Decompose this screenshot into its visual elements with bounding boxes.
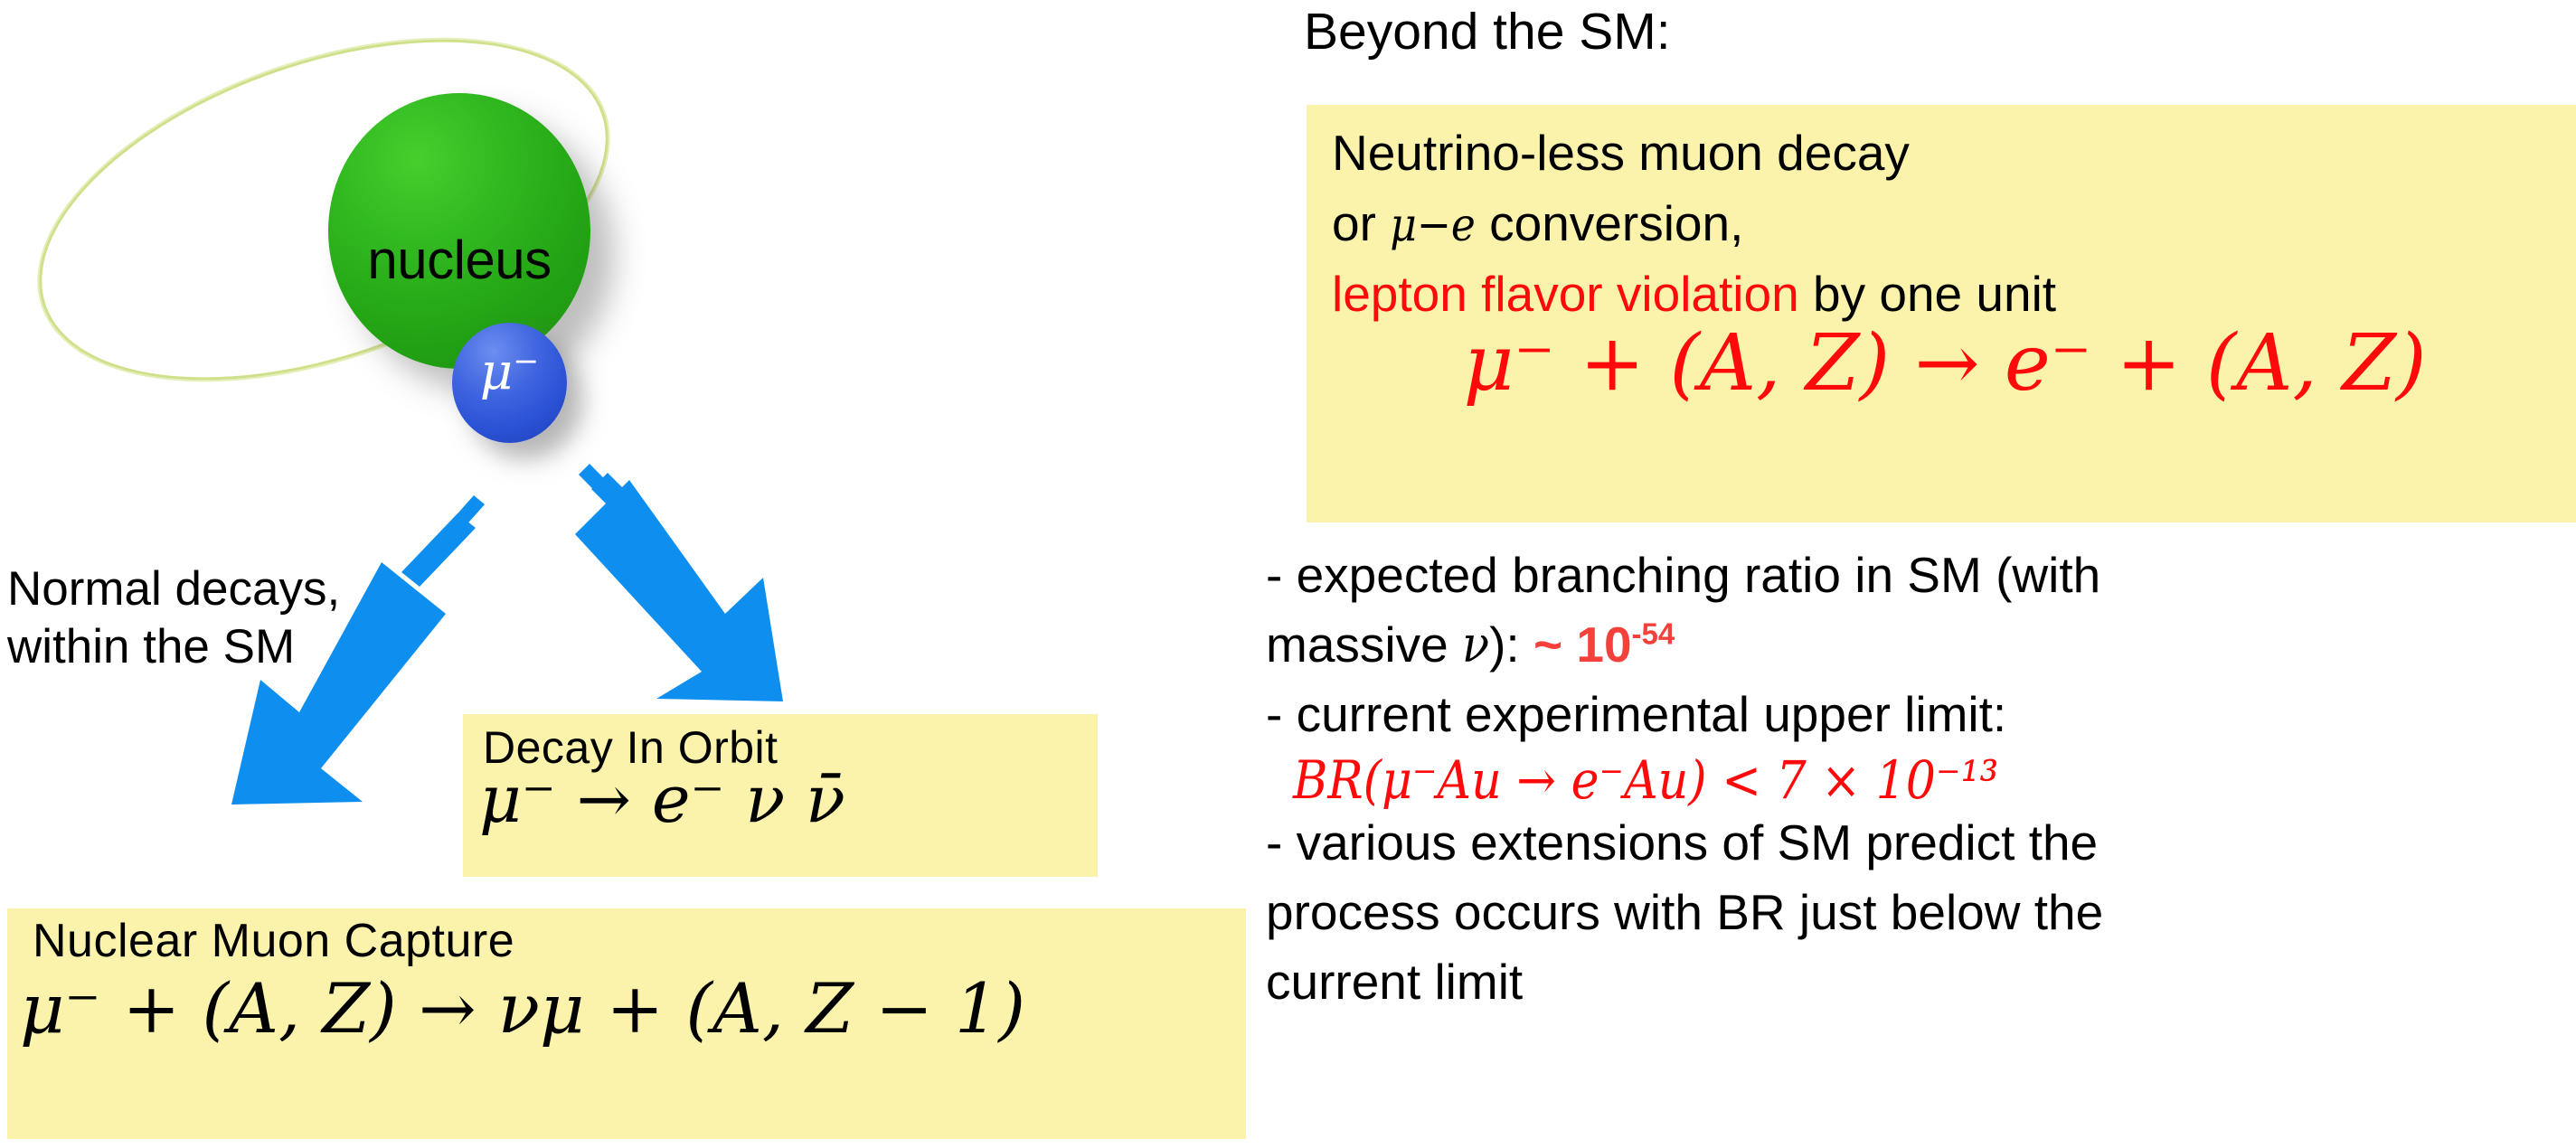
sm-branching-ratio-value: ~ 10-54 [1533, 616, 1675, 673]
bullet-2: - current experimental upper limit: [1266, 680, 2568, 749]
muon-sphere: μ− [452, 323, 567, 443]
bsm-line-2: or μ−e conversion, [1332, 188, 2562, 259]
beyond-sm-heading: Beyond the SM: [1304, 2, 1671, 61]
muon-symbol: μ [480, 343, 513, 402]
beyond-sm-text: Neutrino-less muon decay or μ−e conversi… [1332, 118, 2562, 329]
nuclear-muon-capture-equation: μ⁻ + (A, Z) → νμ + (A, Z − 1) [20, 968, 1025, 1049]
atom-diagram: nucleus μ− Normal decays, within the SM … [0, 0, 1257, 1148]
bsm-line-1: Neutrino-less muon decay [1332, 118, 2562, 188]
bsm-line2-prefix: or [1332, 195, 1390, 251]
normal-decays-label: Normal decays, within the SM [7, 560, 432, 675]
decay-in-orbit-equation: μ⁻ → e⁻ ν ν̄ [479, 761, 845, 837]
bullet-3-line-1: - various extensions of SM predict the [1266, 808, 2568, 878]
nu-symbol: ν [1462, 616, 1489, 673]
experimental-limit-equation: BR(μ⁻Au → e⁻Au) < 7 × 10⁻¹³ [1293, 753, 2568, 808]
nuclear-muon-capture-box: Nuclear Muon Capture μ⁻ + (A, Z) → νμ + … [7, 908, 1246, 1139]
muon-charge: − [513, 343, 539, 380]
bullet-1-line-1: - expected branching ratio in SM (with [1266, 541, 2568, 610]
muon-label: μ− [452, 346, 567, 399]
right-column: Beyond the SM: Neutrino-less muon decay … [1257, 0, 2576, 1148]
bullet-3-line-3: current limit [1266, 947, 2568, 1017]
nuclear-muon-capture-title: Nuclear Muon Capture [33, 914, 514, 968]
nucleus-sphere: nucleus [328, 93, 590, 369]
lepton-flavor-violation-text: lepton flavor violation [1332, 266, 1799, 322]
bullet-1-line-2: massive ν): ~ 10-54 [1266, 610, 2568, 680]
br-exponent: -54 [1632, 617, 1675, 651]
nucleus-label: nucleus [328, 229, 590, 291]
decay-arrow-right-icon [555, 456, 881, 755]
decay-in-orbit-box: Decay In Orbit μ⁻ → e⁻ ν ν̄ [463, 714, 1098, 877]
massive-prefix: massive [1266, 616, 1462, 673]
bullet-3-line-2: process occurs with BR just below the [1266, 878, 2568, 947]
bullet-list: - expected branching ratio in SM (with m… [1266, 541, 2568, 1017]
br-mantissa: ~ 10 [1533, 616, 1632, 673]
bsm-line2-suffix: conversion, [1476, 195, 1744, 251]
mu-e-symbol: μ−e [1390, 198, 1476, 251]
conversion-equation: μ⁻ + (A, Z) → e⁻ + (A, Z) [1312, 318, 2576, 409]
bsm-line3-rest: by one unit [1799, 266, 2056, 322]
beyond-sm-box: Neutrino-less muon decay or μ−e conversi… [1307, 105, 2576, 522]
massive-mid: ): [1489, 616, 1533, 673]
